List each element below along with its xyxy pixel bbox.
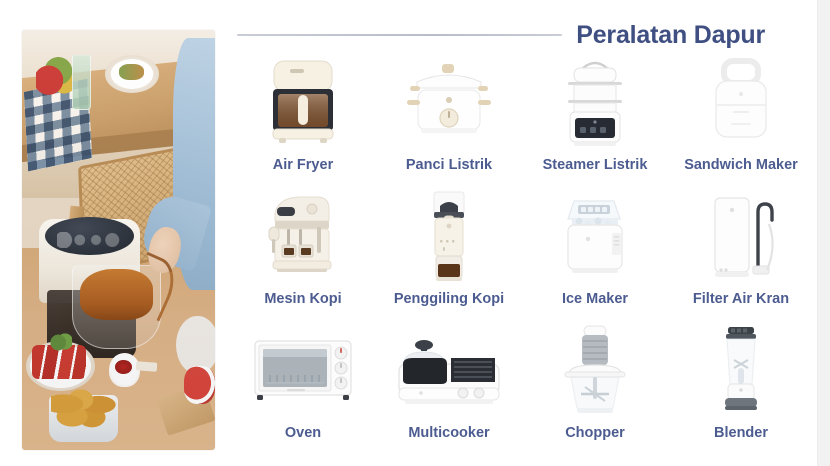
coffee-machine-icon — [232, 189, 374, 285]
photo-plate-food — [119, 64, 144, 81]
photo-vegetables — [36, 55, 73, 97]
product-label: Panci Listrik — [406, 157, 492, 173]
product-cell-sandwich-maker[interactable]: Sandwich Maker — [670, 55, 812, 189]
product-label: Air Fryer — [273, 157, 333, 173]
photo-raw-meat — [184, 366, 215, 404]
electric-pot-icon — [378, 55, 520, 151]
chopper-icon — [524, 323, 666, 419]
photo-drink-glass — [72, 55, 91, 110]
coffee-grinder-icon — [378, 189, 520, 285]
page-title: Peralatan Dapur — [576, 21, 807, 50]
product-cell-steamer-listrik[interactable]: Steamer Listrik — [524, 55, 666, 189]
product-cell-multicooker[interactable]: Multicooker — [378, 323, 520, 457]
product-cell-blender[interactable]: Blender — [670, 323, 812, 457]
air-fryer-icon — [232, 55, 374, 151]
hero-photo-scene — [22, 30, 215, 450]
hero-photo — [22, 30, 215, 450]
product-cell-air-fryer[interactable]: Air Fryer — [232, 55, 374, 189]
product-label: Sandwich Maker — [684, 157, 798, 173]
product-cell-penggiling-kopi[interactable]: Penggiling Kopi — [378, 189, 520, 323]
product-label: Mesin Kopi — [264, 291, 341, 307]
product-label: Ice Maker — [562, 291, 628, 307]
product-label: Multicooker — [408, 425, 489, 441]
product-cell-filter-air-kran[interactable]: Filter Air Kran — [670, 189, 812, 323]
product-label: Steamer Listrik — [543, 157, 648, 173]
product-cell-panci-listrik[interactable]: Panci Listrik — [378, 55, 520, 189]
product-label: Oven — [285, 425, 321, 441]
blender-icon — [670, 323, 812, 419]
sandwich-maker-icon — [670, 55, 812, 151]
ice-maker-icon — [524, 189, 666, 285]
oven-icon — [232, 323, 374, 419]
photo-spoon-handle — [136, 361, 158, 372]
product-cell-ice-maker[interactable]: Ice Maker — [524, 189, 666, 323]
photo-air-fryer-controls — [57, 232, 123, 249]
photo-fried-nuggets — [51, 387, 117, 429]
product-cell-mesin-kopi[interactable]: Mesin Kopi — [232, 189, 374, 323]
photo-lettuce-garnish — [49, 332, 72, 353]
product-cell-chopper[interactable]: Chopper — [524, 323, 666, 457]
water-filter-icon — [670, 189, 812, 285]
section-header: Peralatan Dapur — [237, 14, 807, 56]
electric-steamer-icon — [524, 55, 666, 151]
header-divider-rule — [237, 34, 562, 36]
product-label: Filter Air Kran — [693, 291, 789, 307]
page-root: Peralatan Dapur — [0, 0, 830, 466]
product-cell-oven[interactable]: Oven — [232, 323, 374, 457]
product-label: Blender — [714, 425, 768, 441]
multicooker-icon — [378, 323, 520, 419]
product-grid: Air Fryer Panci Listrik — [232, 55, 812, 457]
product-label: Penggiling Kopi — [394, 291, 504, 307]
product-label: Chopper — [565, 425, 625, 441]
page-scroll-gutter[interactable] — [818, 0, 830, 466]
